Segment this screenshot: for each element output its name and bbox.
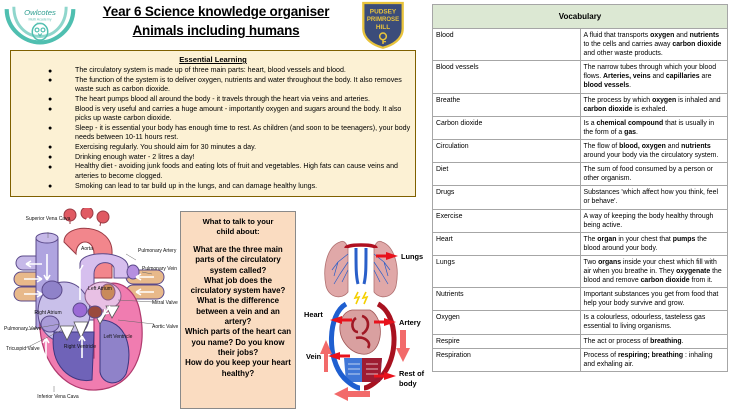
vocabulary-table: Vocabulary BloodA fluid that transports …: [432, 4, 728, 372]
left-column: Owlcotes Multi Academy Trust Year 6 Scie…: [0, 0, 428, 411]
vocabulary-term: Lungs: [433, 255, 581, 287]
essential-learning-item-text: Blood is very useful and carries a huge …: [75, 105, 401, 122]
bullet-icon: ●: [48, 95, 52, 104]
vocabulary-header-cell: Vocabulary: [433, 5, 728, 29]
talk-box-question: What are the three main parts of the cir…: [184, 245, 292, 276]
essential-learning-item-text: Healthy diet - avoiding junk foods and e…: [75, 162, 398, 179]
vocabulary-row: Blood vesselsThe narrow tubes through wh…: [433, 61, 728, 93]
talk-box-question: Which parts of the heart can you name? D…: [184, 327, 292, 358]
essential-learning-item: ●The function of the system is to delive…: [15, 76, 411, 95]
bullet-icon: ●: [48, 153, 52, 162]
vocabulary-body: BloodA fluid that transports oxygen and …: [433, 29, 728, 372]
heart-anatomy-diagram: Superior Vena Cava Aorta Pulmonary Arter…: [2, 208, 178, 408]
vocabulary-term: Breathe: [433, 93, 581, 116]
shield-text-line-1: PUDSEY: [370, 9, 397, 16]
vocabulary-definition: Two organs inside your chest which fill …: [580, 255, 728, 287]
page-title-line-2: Animals including humans: [80, 21, 352, 40]
vocabulary-row: RespirationProcess of respiring; breathi…: [433, 348, 728, 371]
vocabulary-definition: The process by which oxygen is inhaled a…: [580, 93, 728, 116]
essential-learning-item: ●The circulatory system is made up of th…: [15, 66, 411, 75]
bullet-icon: ●: [48, 143, 52, 152]
bottom-row: Superior Vena Cava Aorta Pulmonary Arter…: [0, 206, 428, 411]
essential-learning-item-text: Sleep - it is essential your body has en…: [75, 124, 410, 141]
vocabulary-row: BreatheThe process by which oxygen is in…: [433, 93, 728, 116]
vocabulary-row: Carbon dioxideIs a chemical compound tha…: [433, 116, 728, 139]
essential-learning-item-text: Smoking can lead to tar build up in the …: [75, 182, 317, 190]
circulation-label-lungs: Lungs: [401, 252, 423, 261]
page-header: Owlcotes Multi Academy Trust Year 6 Scie…: [0, 0, 428, 48]
vocabulary-row: OxygenIs a colourless, odourless, tastel…: [433, 311, 728, 334]
bullet-icon: ●: [48, 163, 52, 172]
talk-box-heading-line-2: child about:: [184, 227, 292, 237]
talk-box-question: How do you keep your heart healthy?: [184, 358, 292, 379]
essential-learning-item: ●Healthy diet - avoiding junk foods and …: [15, 162, 411, 181]
circulation-label-heart: Heart: [304, 310, 323, 319]
circulation-label-rest-of-body-line-2: body: [399, 379, 418, 388]
vocabulary-row: RespireThe act or process of breathing.: [433, 334, 728, 348]
heart-label-aortic-valve: Aortic Valve: [152, 324, 178, 330]
heart-label-left-ventricle: Left Ventricle: [104, 334, 133, 340]
talk-box-question: What job does the circulatory system hav…: [184, 276, 292, 297]
vocabulary-term: Heart: [433, 232, 581, 255]
essential-learning-box: Essential Learning ●The circulatory syst…: [10, 50, 416, 197]
heart-label-pulmonary-valve: Pulmonary Valve: [4, 326, 42, 332]
essential-learning-item-text: The function of the system is to deliver…: [75, 76, 402, 93]
owlcotes-logo: Owlcotes Multi Academy Trust: [4, 2, 76, 46]
essential-learning-item-text: The heart pumps blood all around the bod…: [75, 95, 370, 103]
vocabulary-definition: Substances 'which affect how you think, …: [580, 186, 728, 209]
circulation-label-rest-of-body-line-1: Rest of: [399, 369, 425, 378]
vocabulary-term: Respire: [433, 334, 581, 348]
shield-text-line-3: HILL: [376, 24, 390, 31]
circulation-label-vein: Vein: [306, 352, 322, 361]
owlcotes-logo-sub1: Multi Academy: [28, 17, 51, 21]
heart-label-right-atrium: Right Atrium: [34, 310, 61, 316]
vocabulary-term: Oxygen: [433, 311, 581, 334]
vocabulary-term: Diet: [433, 163, 581, 186]
vocabulary-definition: Important substances you get from food t…: [580, 288, 728, 311]
essential-learning-item: ●Drinking enough water - 2 litres a day!: [15, 153, 411, 162]
vocabulary-definition: A way of keeping the body healthy throug…: [580, 209, 728, 232]
vocabulary-row: NutrientsImportant substances you get fr…: [433, 288, 728, 311]
talk-box-heading-line-1: What to talk to your: [184, 217, 292, 227]
vocabulary-row: LungsTwo organs inside your chest which …: [433, 255, 728, 287]
bullet-icon: ●: [48, 76, 52, 85]
vocabulary-term: Circulation: [433, 139, 581, 162]
heart-label-right-ventricle: Right Ventricle: [64, 344, 96, 350]
vocabulary-row: ExerciseA way of keeping the body health…: [433, 209, 728, 232]
bullet-icon: ●: [48, 124, 52, 133]
heart-label-mitral-valve: Mitral Valve: [152, 300, 178, 306]
vocabulary-row: HeartThe organ in your chest that pumps …: [433, 232, 728, 255]
owlcotes-logo-name: Owlcotes: [24, 8, 56, 17]
heart-label-pulmonary-vein: Pulmonary Vein: [142, 266, 177, 272]
vocabulary-definition: The flow of blood, oxygen and nutrients …: [580, 139, 728, 162]
essential-learning-title: Essential Learning: [15, 55, 411, 64]
vocabulary-term: Respiration: [433, 348, 581, 371]
heart-label-inferior-vena-cava: Inferior Vena Cava: [37, 394, 79, 400]
essential-learning-item: ●The heart pumps blood all around the bo…: [15, 95, 411, 104]
bullet-icon: ●: [48, 182, 52, 191]
bullet-icon: ●: [48, 105, 52, 114]
heart-label-tricuspid-valve: Tricuspid Valve: [6, 346, 40, 352]
heart-label-left-atrium: Left Atrium: [88, 286, 112, 292]
vocabulary-row: DrugsSubstances 'which affect how you th…: [433, 186, 728, 209]
talk-box-question-list: What are the three main parts of the cir…: [184, 245, 292, 379]
heart-label-pulmonary-artery: Pulmonary Artery: [138, 248, 177, 254]
pudsey-primrose-hill-shield-logo: PUDSEY PRIMROSE HILL: [360, 0, 406, 50]
heart-label-aorta: Aorta: [81, 246, 93, 252]
vocabulary-term: Exercise: [433, 209, 581, 232]
vocabulary-definition: Is a chemical compound that is usually i…: [580, 116, 728, 139]
knowledge-organiser-page: Owlcotes Multi Academy Trust Year 6 Scie…: [0, 0, 732, 411]
essential-learning-item-text: Drinking enough water - 2 litres a day!: [75, 153, 194, 161]
essential-learning-item-text: The circulatory system is made up of thr…: [75, 66, 346, 74]
owlcotes-logo-sub2: Trust: [37, 22, 44, 26]
page-title: Year 6 Science knowledge organiser Anima…: [80, 2, 352, 40]
bullet-icon: ●: [48, 67, 52, 76]
talk-box-spacer: [184, 237, 292, 245]
what-to-talk-about-box: What to talk to your child about: What a…: [180, 211, 296, 409]
vocabulary-term: Drugs: [433, 186, 581, 209]
vocabulary-row: DietThe sum of food consumed by a person…: [433, 163, 728, 186]
vocabulary-term: Blood: [433, 29, 581, 61]
shield-text-line-2: PRIMROSE: [367, 17, 399, 23]
essential-learning-list: ●The circulatory system is made up of th…: [15, 66, 411, 191]
page-title-line-1: Year 6 Science knowledge organiser: [80, 2, 352, 21]
vocabulary-definition: Process of respiring; breathing : inhali…: [580, 348, 728, 371]
circulation-label-artery: Artery: [399, 318, 422, 327]
vocabulary-definition: A fluid that transports oxygen and nutri…: [580, 29, 728, 61]
vocabulary-term: Blood vessels: [433, 61, 581, 93]
vocabulary-definition: The narrow tubes through which your bloo…: [580, 61, 728, 93]
essential-learning-item: ●Sleep - it is essential your body has e…: [15, 124, 411, 143]
circulatory-system-diagram: Lungs Heart Artery Vein Rest of body: [300, 218, 428, 408]
essential-learning-item: ●Blood is very useful and carries a huge…: [15, 105, 411, 124]
talk-box-question: What is the difference between a vein an…: [184, 296, 292, 327]
vocabulary-definition: The act or process of breathing.: [580, 334, 728, 348]
vocabulary-definition: The sum of food consumed by a person or …: [580, 163, 728, 186]
vocabulary-definition: The organ in your chest that pumps the b…: [580, 232, 728, 255]
essential-learning-item-text: Exercising regularly. You should aim for…: [75, 143, 256, 151]
essential-learning-item: ●Exercising regularly. You should aim fo…: [15, 143, 411, 152]
vocabulary-row: BloodA fluid that transports oxygen and …: [433, 29, 728, 61]
vocabulary-definition: Is a colourless, odourless, tasteless ga…: [580, 311, 728, 334]
vocabulary-term: Carbon dioxide: [433, 116, 581, 139]
vocabulary-row: CirculationThe flow of blood, oxygen and…: [433, 139, 728, 162]
vocabulary-term: Nutrients: [433, 288, 581, 311]
vocabulary-header-row: Vocabulary: [433, 5, 728, 29]
essential-learning-item: ●Smoking can lead to tar build up in the…: [15, 182, 411, 191]
